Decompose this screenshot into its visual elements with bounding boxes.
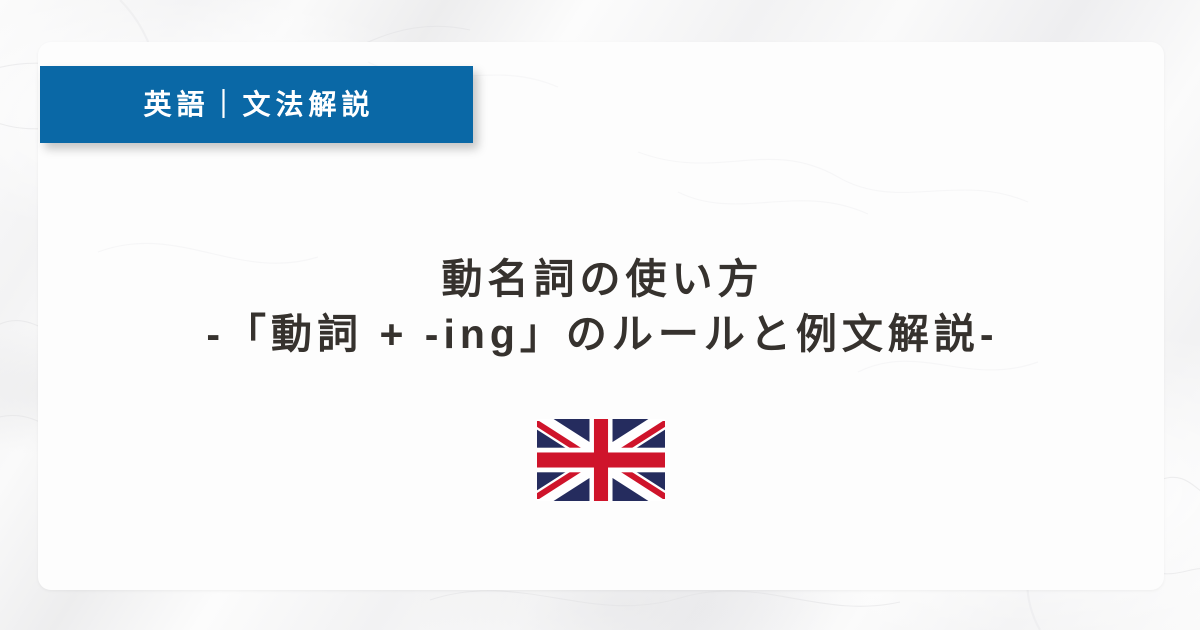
title-line-1: 動名詞の使い方 [0,252,1200,307]
category-badge-label: 英語｜文法解説 [138,91,374,119]
uk-flag-icon [537,419,665,501]
category-badge: 英語｜文法解説 [40,66,473,143]
thumbnail-canvas: 英語｜文法解説 動名詞の使い方 -「動詞 + -ing」のルールと例文解説- [0,0,1200,630]
title-block: 動名詞の使い方 -「動詞 + -ing」のルールと例文解説- [0,252,1200,362]
title-line-2: -「動詞 + -ing」のルールと例文解説- [0,307,1200,362]
